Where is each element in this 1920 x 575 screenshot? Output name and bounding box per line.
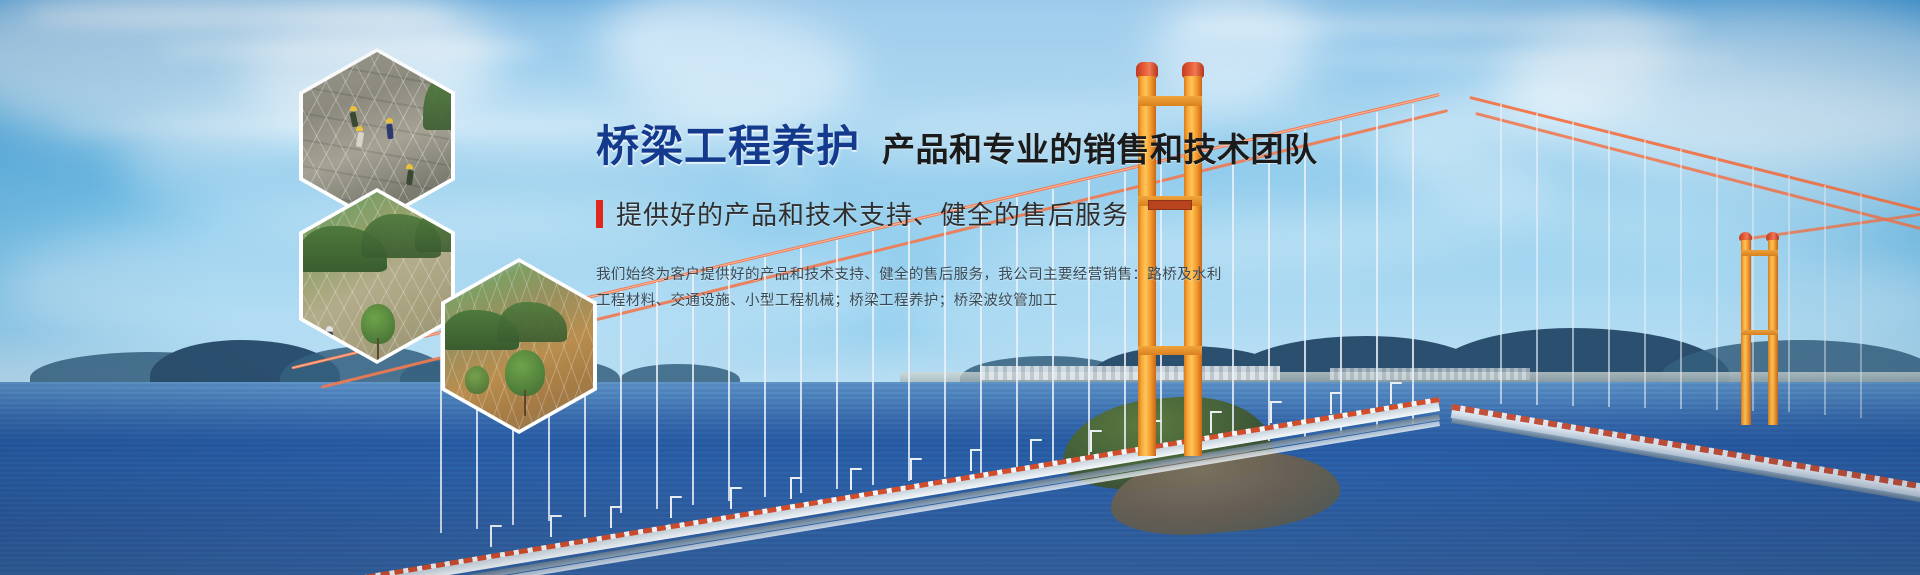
headline-secondary: 产品和专业的销售和技术团队 [882,133,1318,166]
bridge-tower-brace-upper [1138,96,1202,106]
banner-text-block: 桥梁工程养护 产品和专业的销售和技术团队 提供好的产品和技术支持、健全的售后服务… [596,126,1376,314]
headline-primary: 桥梁工程养护 [596,126,860,169]
subtitle-row: 提供好的产品和技术支持、健全的售后服务 [596,195,1376,232]
subtitle: 提供好的产品和技术支持、健全的售后服务 [616,195,1129,232]
body-line: 工程材料、交通设施、小型工程机械；桥梁工程养护；桥梁波纹管加工 [596,288,1376,314]
body-text: 我们始终为客户提供好的产品和技术支持、健全的售后服务，我公司主要经营销售：路桥及… [596,262,1376,314]
hero-banner: 桥梁工程养护 产品和专业的销售和技术团队 提供好的产品和技术支持、健全的售后服务… [0,0,1920,575]
bridge-tower-brace-lower [1138,346,1202,355]
body-line: 我们始终为客户提供好的产品和技术支持、健全的售后服务，我公司主要经营销售：路桥及… [596,262,1376,288]
bridge-far-tower-brace-lower [1741,330,1778,335]
bridge-far-tower-brace [1741,250,1778,256]
headline: 桥梁工程养护 产品和专业的销售和技术团队 [596,126,1376,169]
accent-bar-icon [596,200,603,228]
